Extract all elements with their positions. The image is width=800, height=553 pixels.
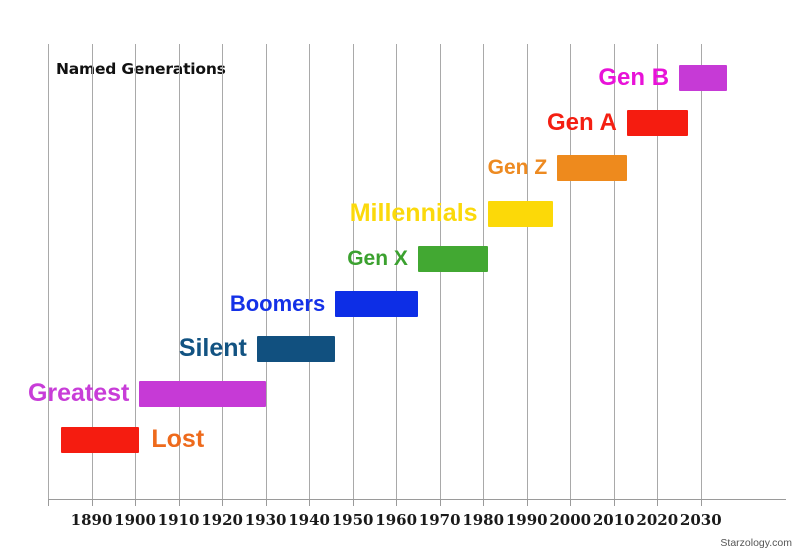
- tick-1910: [179, 499, 180, 506]
- series-label-lost: Lost: [151, 427, 204, 452]
- bar-gen-b: [679, 65, 727, 91]
- x-tick-label-1940: 1940: [288, 511, 330, 529]
- series-label-gen-a: Gen A: [547, 111, 617, 135]
- bar-gen-a: [627, 110, 688, 136]
- tick-1990: [527, 499, 528, 506]
- x-axis-line: [48, 499, 786, 500]
- tick-1930: [266, 499, 267, 506]
- tick-2030: [701, 499, 702, 506]
- tick-1950: [353, 499, 354, 506]
- tick-1960: [396, 499, 397, 506]
- x-tick-label-1910: 1910: [158, 511, 200, 529]
- bar-gen-x: [418, 246, 488, 272]
- bar-silent: [257, 336, 335, 362]
- tick-1880: [48, 499, 49, 506]
- series-label-millennials: Millennials: [350, 201, 478, 226]
- tick-1920: [222, 499, 223, 506]
- tick-1980: [483, 499, 484, 506]
- series-label-greatest: Greatest: [28, 381, 129, 406]
- series-label-boomers: Boomers: [230, 293, 325, 315]
- x-tick-label-1900: 1900: [114, 511, 156, 529]
- gridline-2030: [701, 44, 702, 499]
- tick-2020: [657, 499, 658, 506]
- credit-watermark: Starzology.com: [720, 537, 792, 549]
- x-tick-label-2030: 2030: [680, 511, 722, 529]
- series-label-gen-b: Gen B: [598, 66, 669, 90]
- series-label-silent: Silent: [179, 336, 247, 361]
- x-tick-label-1970: 1970: [419, 511, 461, 529]
- x-tick-label-1960: 1960: [375, 511, 417, 529]
- gridline-1950: [353, 44, 354, 499]
- tick-1940: [309, 499, 310, 506]
- tick-1970: [440, 499, 441, 506]
- tick-2000: [570, 499, 571, 506]
- bar-greatest: [139, 381, 265, 407]
- series-label-gen-x: Gen X: [347, 248, 408, 269]
- gridline-1990: [527, 44, 528, 499]
- gridline-1940: [309, 44, 310, 499]
- bar-boomers: [335, 291, 418, 317]
- tick-1890: [92, 499, 93, 506]
- tick-2010: [614, 499, 615, 506]
- gridline-1960: [396, 44, 397, 499]
- gridline-1920: [222, 44, 223, 499]
- tick-1900: [135, 499, 136, 506]
- bar-lost: [61, 427, 139, 453]
- gridline-1880: [48, 44, 49, 499]
- x-tick-label-2000: 2000: [549, 511, 591, 529]
- x-tick-label-1980: 1980: [462, 511, 504, 529]
- x-tick-label-1950: 1950: [332, 511, 374, 529]
- bar-millennials: [488, 201, 553, 227]
- x-tick-label-1920: 1920: [201, 511, 243, 529]
- bar-gen-z: [557, 155, 627, 181]
- x-tick-label-2020: 2020: [636, 511, 678, 529]
- x-tick-label-1890: 1890: [71, 511, 113, 529]
- named-generations-chart: Named Generations 1890190019101920193019…: [0, 0, 800, 553]
- x-tick-label-2010: 2010: [593, 511, 635, 529]
- x-tick-label-1990: 1990: [506, 511, 548, 529]
- gridline-1930: [266, 44, 267, 499]
- x-tick-label-1930: 1930: [245, 511, 287, 529]
- series-label-gen-z: Gen Z: [488, 157, 548, 178]
